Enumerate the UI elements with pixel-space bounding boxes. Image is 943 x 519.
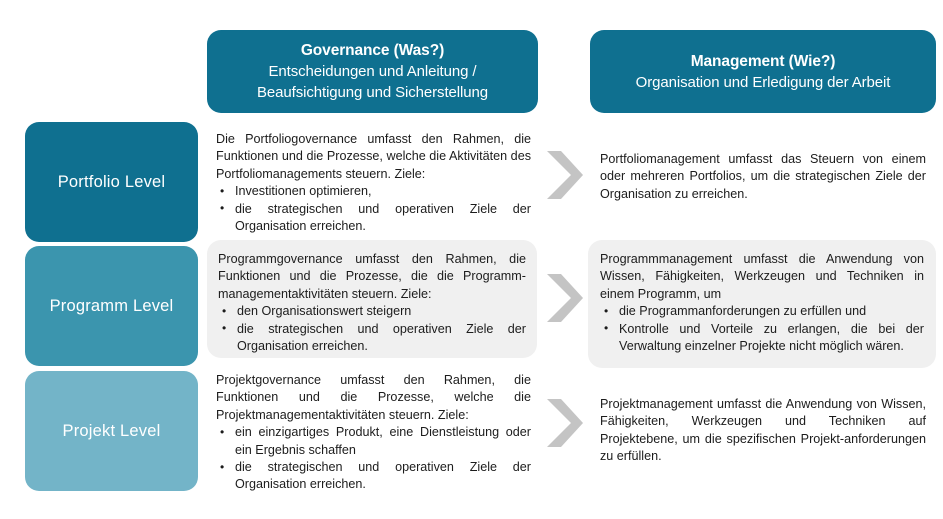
level-box-projekt: Projekt Level bbox=[25, 371, 198, 491]
level-label-programm: Programm Level bbox=[50, 297, 174, 316]
cell-management-programm: Programmmanagement umfasst die Anwendung… bbox=[588, 240, 936, 368]
list-item: die strategischen und operativen Ziele d… bbox=[216, 201, 531, 236]
governance-subtitle: Entscheidungen und Anleitung / Beaufsich… bbox=[217, 61, 528, 103]
list-item: die strategischen und operativen Ziele d… bbox=[218, 321, 526, 356]
cell-bullet-list: die Programmanforderungen zu erfüllen un… bbox=[600, 303, 924, 355]
level-box-programm: Programm Level bbox=[25, 246, 198, 366]
chevron-right-icon bbox=[545, 397, 585, 449]
cell-governance-programm: Programmgovernance umfasst den Rahmen, d… bbox=[207, 240, 537, 358]
cell-management-portfolio: Portfoliomanagement umfasst das Steuern … bbox=[600, 151, 926, 203]
cell-intro-text: Portfoliomanagement umfasst das Steuern … bbox=[600, 151, 926, 203]
list-item: den Organisationswert steigern bbox=[218, 303, 526, 320]
chevron-right-icon bbox=[545, 149, 585, 201]
cell-intro-text: Projektmanagement umfasst die Anwendung … bbox=[600, 396, 926, 466]
cell-governance-projekt: Projektgovernance umfasst den Rahmen, di… bbox=[216, 372, 531, 494]
list-item: die strategischen und operativen Ziele d… bbox=[216, 459, 531, 494]
list-item: Investitionen optimieren, bbox=[216, 183, 531, 200]
cell-management-projekt: Projektmanagement umfasst die Anwendung … bbox=[600, 396, 926, 466]
column-header-governance: Governance (Was?) Entscheidungen und Anl… bbox=[207, 30, 538, 113]
column-header-management: Management (Wie?) Organisation und Erled… bbox=[590, 30, 936, 113]
cell-governance-portfolio: Die Portfoliogovernance umfasst den Rahm… bbox=[216, 131, 531, 235]
level-box-portfolio: Portfolio Level bbox=[25, 122, 198, 242]
cell-bullet-list: Investitionen optimieren, die strategisc… bbox=[216, 183, 531, 235]
cell-bullet-list: den Organisationswert steigern die strat… bbox=[218, 303, 526, 355]
level-label-portfolio: Portfolio Level bbox=[58, 173, 166, 192]
list-item: Kontrolle und Vorteile zu erlangen, die … bbox=[600, 321, 924, 356]
diagram-canvas: Governance (Was?) Entscheidungen und Anl… bbox=[0, 0, 943, 519]
list-item: ein einzigartiges Produkt, eine Dienstle… bbox=[216, 424, 531, 459]
chevron-right-icon bbox=[545, 272, 585, 324]
cell-intro-text: Projektgovernance umfasst den Rahmen, di… bbox=[216, 372, 531, 424]
governance-title: Governance (Was?) bbox=[301, 40, 444, 61]
cell-bullet-list: ein einzigartiges Produkt, eine Dienstle… bbox=[216, 424, 531, 494]
management-title: Management (Wie?) bbox=[691, 51, 836, 72]
cell-intro-text: Programmgovernance umfasst den Rahmen, d… bbox=[218, 251, 526, 303]
list-item: die Programmanforderungen zu erfüllen un… bbox=[600, 303, 924, 320]
cell-intro-text: Die Portfoliogovernance umfasst den Rahm… bbox=[216, 131, 531, 183]
level-label-projekt: Projekt Level bbox=[63, 422, 161, 441]
cell-intro-text: Programmmanagement umfasst die Anwendung… bbox=[600, 251, 924, 303]
management-subtitle: Organisation und Erledigung der Arbeit bbox=[636, 72, 891, 93]
